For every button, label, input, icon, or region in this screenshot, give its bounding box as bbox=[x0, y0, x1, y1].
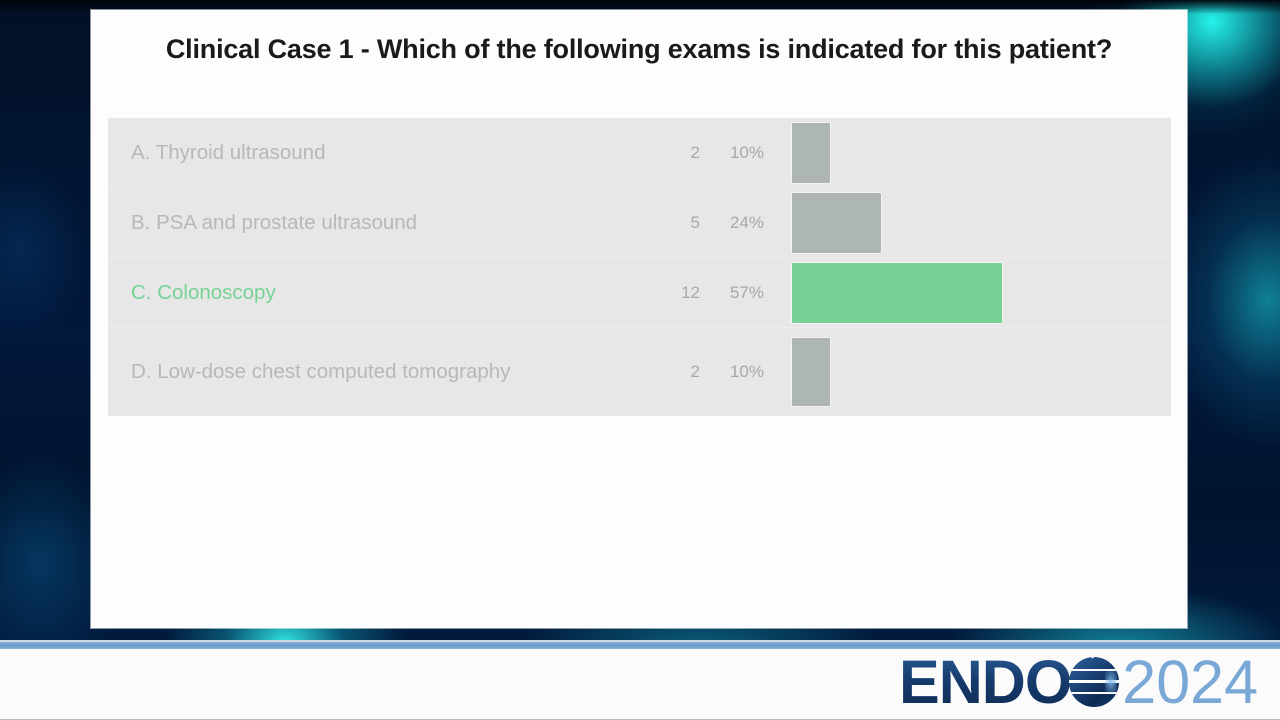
poll-option-count-c: 12 bbox=[638, 283, 700, 303]
poll-option-row-c[interactable]: C. Colonoscopy 12 57% bbox=[108, 258, 1171, 328]
globe-highlight bbox=[1105, 671, 1117, 693]
poll-bar-track-d bbox=[792, 338, 1171, 406]
poll-option-count-b: 5 bbox=[638, 213, 700, 233]
poll-option-count-d: 2 bbox=[638, 362, 700, 382]
footer-divider bbox=[0, 642, 1280, 649]
slide-panel: Clinical Case 1 - Which of the following… bbox=[91, 10, 1187, 628]
poll-results: A. Thyroid ultrasound 2 10% B. PSA and p… bbox=[108, 118, 1171, 416]
poll-bar-a bbox=[792, 123, 830, 183]
logo-wordmark: ENDO bbox=[899, 652, 1071, 713]
poll-option-percent-c: 57% bbox=[700, 283, 792, 303]
poll-bar-c bbox=[792, 263, 1002, 323]
poll-bar-track-a bbox=[792, 123, 1171, 183]
poll-option-count-a: 2 bbox=[638, 143, 700, 163]
poll-bar-b bbox=[792, 193, 881, 253]
endo-2024-logo: ENDO 2024 bbox=[899, 651, 1258, 713]
poll-option-row-b[interactable]: B. PSA and prostate ultrasound 5 24% bbox=[108, 188, 1171, 258]
page-title: Clinical Case 1 - Which of the following… bbox=[131, 30, 1147, 68]
poll-bar-d bbox=[792, 338, 830, 406]
poll-option-label-c: C. Colonoscopy bbox=[108, 268, 638, 317]
poll-option-row-a[interactable]: A. Thyroid ultrasound 2 10% bbox=[108, 118, 1171, 188]
poll-option-label-d: D. Low-dose chest computed tomography bbox=[108, 347, 638, 396]
poll-option-row-d[interactable]: D. Low-dose chest computed tomography 2 … bbox=[108, 328, 1171, 416]
poll-option-percent-d: 10% bbox=[700, 362, 792, 382]
logo-year: 2024 bbox=[1122, 652, 1258, 713]
poll-option-label-a: A. Thyroid ultrasound bbox=[108, 128, 638, 177]
globe-icon bbox=[1069, 657, 1119, 707]
presentation-stage: Clinical Case 1 - Which of the following… bbox=[0, 0, 1280, 720]
poll-bar-track-c bbox=[792, 263, 1171, 323]
poll-option-percent-a: 10% bbox=[700, 143, 792, 163]
poll-bar-track-b bbox=[792, 193, 1171, 253]
poll-option-label-b: B. PSA and prostate ultrasound bbox=[108, 198, 638, 247]
poll-option-percent-b: 24% bbox=[700, 213, 792, 233]
